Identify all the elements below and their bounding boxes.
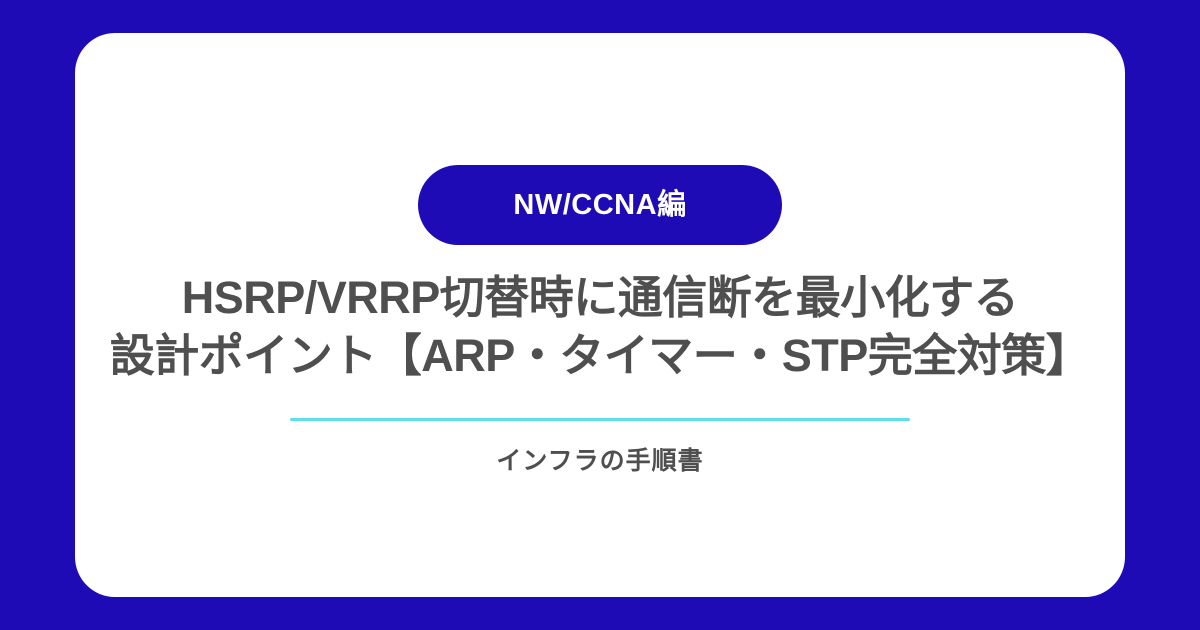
title-divider [290, 418, 910, 421]
og-image-canvas: NW/CCNA編 HSRP/VRRP切替時に通信断を最小化する 設計ポイント【A… [0, 0, 1200, 630]
page-title-line-1: HSRP/VRRP切替時に通信断を最小化する [95, 269, 1105, 327]
site-name: インフラの手順書 [75, 444, 1125, 478]
page-title-line-2: 設計ポイント【ARP・タイマー・STP完全対策】 [95, 327, 1105, 385]
content-card: NW/CCNA編 HSRP/VRRP切替時に通信断を最小化する 設計ポイント【A… [75, 33, 1125, 597]
category-badge-label: NW/CCNA編 [513, 191, 686, 220]
category-badge: NW/CCNA編 [418, 165, 782, 245]
page-title: HSRP/VRRP切替時に通信断を最小化する 設計ポイント【ARP・タイマー・S… [75, 269, 1125, 385]
